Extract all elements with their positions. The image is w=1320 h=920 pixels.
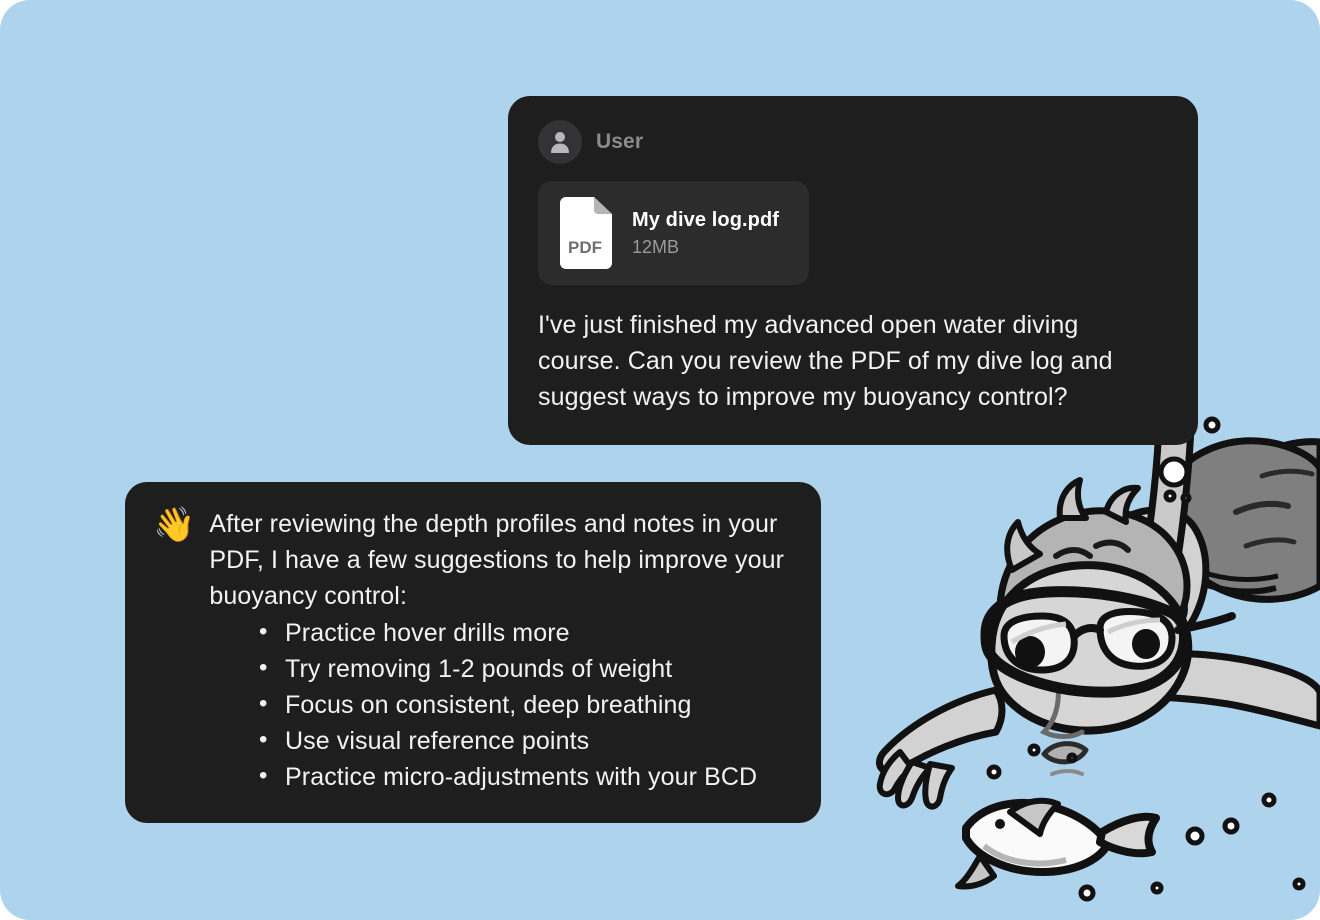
fish — [958, 801, 1156, 887]
chat-screenshot-canvas: User PDF My dive log.pdf 12MB I've just … — [0, 0, 1320, 920]
dive-mask — [986, 592, 1232, 692]
list-item: Focus on consistent, deep breathing — [259, 687, 791, 723]
user-message-header: User — [538, 120, 1168, 164]
person-icon — [549, 130, 571, 154]
message-author-name: User — [596, 130, 643, 154]
diver-right-arm — [1127, 654, 1320, 726]
diver-face — [991, 565, 1188, 774]
diver-hair — [1000, 480, 1187, 662]
attachment-meta: My dive log.pdf 12MB — [632, 209, 779, 258]
list-item: Practice hover drills more — [259, 615, 791, 651]
attachment-file-size: 12MB — [632, 237, 779, 258]
pdf-file-icon: PDF — [556, 197, 612, 269]
assistant-message-bubble: 👋 After reviewing the depth profiles and… — [125, 482, 821, 823]
suggestion-list: Practice hover drills more Try removing … — [153, 615, 791, 795]
list-item: Try removing 1-2 pounds of weight — [259, 651, 791, 687]
waving-hand-emoji: 👋 — [153, 507, 195, 543]
diver-torso — [1052, 441, 1320, 665]
list-item: Practice micro-adjustments with your BCD — [259, 759, 791, 795]
svg-text:PDF: PDF — [568, 238, 602, 257]
user-message-bubble: User PDF My dive log.pdf 12MB I've just … — [508, 96, 1198, 445]
attachment-card[interactable]: PDF My dive log.pdf 12MB — [538, 181, 809, 285]
diver-left-arm — [879, 690, 1002, 807]
assistant-intro-text: After reviewing the depth profiles and n… — [209, 506, 791, 614]
list-item: Use visual reference points — [259, 723, 791, 759]
bubble-group — [989, 386, 1303, 900]
assistant-intro-row: 👋 After reviewing the depth profiles and… — [153, 506, 791, 614]
attachment-file-name: My dive log.pdf — [632, 209, 779, 232]
avatar — [538, 120, 582, 164]
user-message-text: I've just finished my advanced open wate… — [538, 307, 1168, 415]
